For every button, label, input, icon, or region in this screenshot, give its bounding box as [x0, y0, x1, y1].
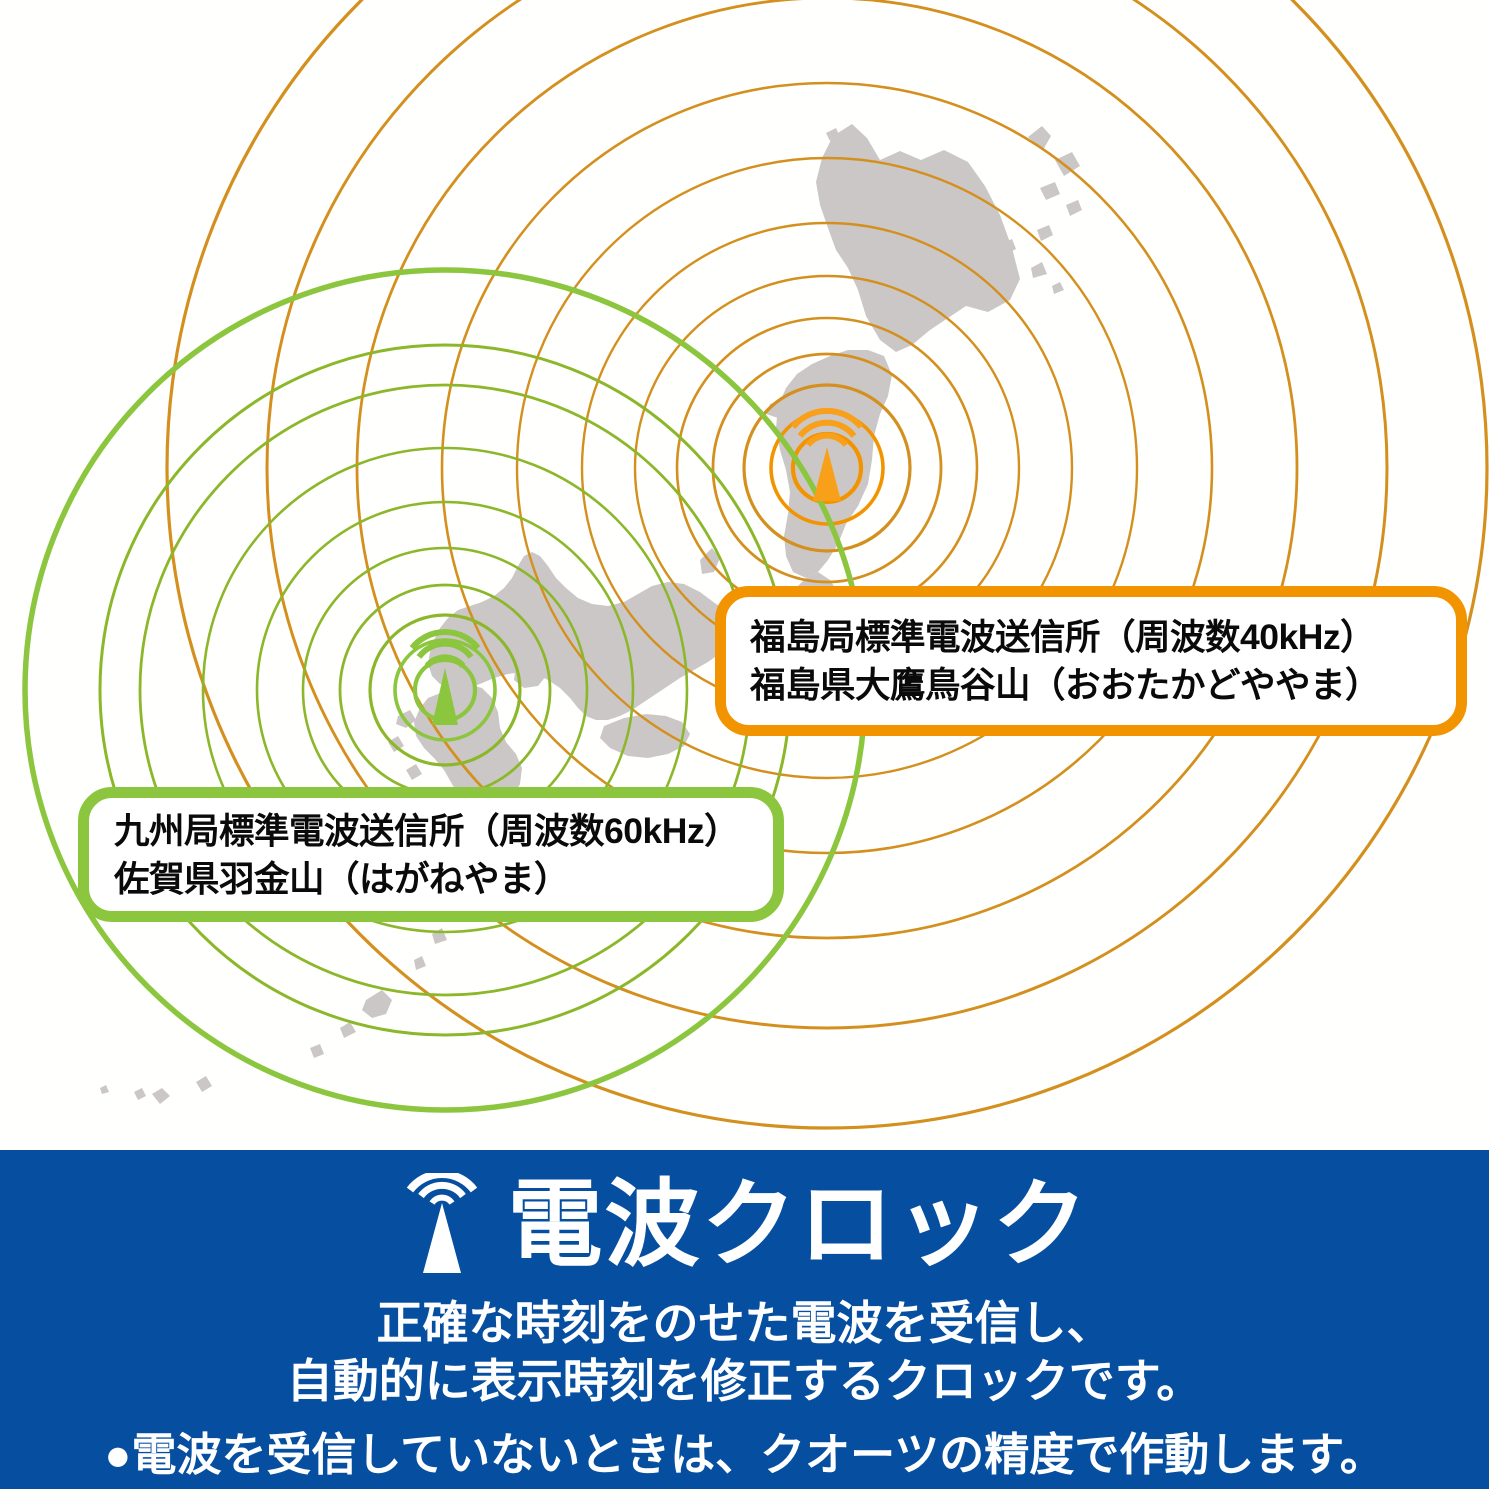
- fukushima-station-line-2: 福島県大鷹鳥谷山（おおたかどややま）: [750, 661, 1432, 709]
- coverage-map: 福島局標準電波送信所（周波数40kHz） 福島県大鷹鳥谷山（おおたかどややま） …: [0, 0, 1489, 1150]
- banner-subtitle-line-1: 正確な時刻をのせた電波を受信し、: [0, 1287, 1489, 1353]
- banner-subtitle-line-2: 自動的に表示時刻を修正するクロックです。: [0, 1345, 1489, 1411]
- banner-title: 電波クロック: [507, 1178, 1089, 1273]
- fukushima-station-line-1: 福島局標準電波送信所（周波数40kHz）: [750, 613, 1432, 661]
- map-graphic: [0, 0, 1489, 1150]
- banner-title-row: 電波クロック: [0, 1170, 1489, 1280]
- fukushima-station-callout: 福島局標準電波送信所（周波数40kHz） 福島県大鷹鳥谷山（おおたかどややま）: [715, 586, 1467, 736]
- kyushu-station-line-1: 九州局標準電波送信所（周波数60kHz）: [114, 807, 748, 855]
- kyushu-station-callout: 九州局標準電波送信所（周波数60kHz） 佐賀県羽金山（はがねやま）: [78, 787, 784, 922]
- banner-note: ●電波を受信していないときは、クオーツの精度で作動します。: [0, 1418, 1489, 1483]
- kyushu-station-line-2: 佐賀県羽金山（はがねやま）: [114, 855, 748, 903]
- radio-clock-banner: 電波クロック 正確な時刻をのせた電波を受信し、 自動的に表示時刻を修正するクロッ…: [0, 1150, 1489, 1489]
- radio-tower-icon: [399, 1173, 485, 1277]
- radio-clock-infographic: 福島局標準電波送信所（周波数40kHz） 福島県大鷹鳥谷山（おおたかどややま） …: [0, 0, 1489, 1489]
